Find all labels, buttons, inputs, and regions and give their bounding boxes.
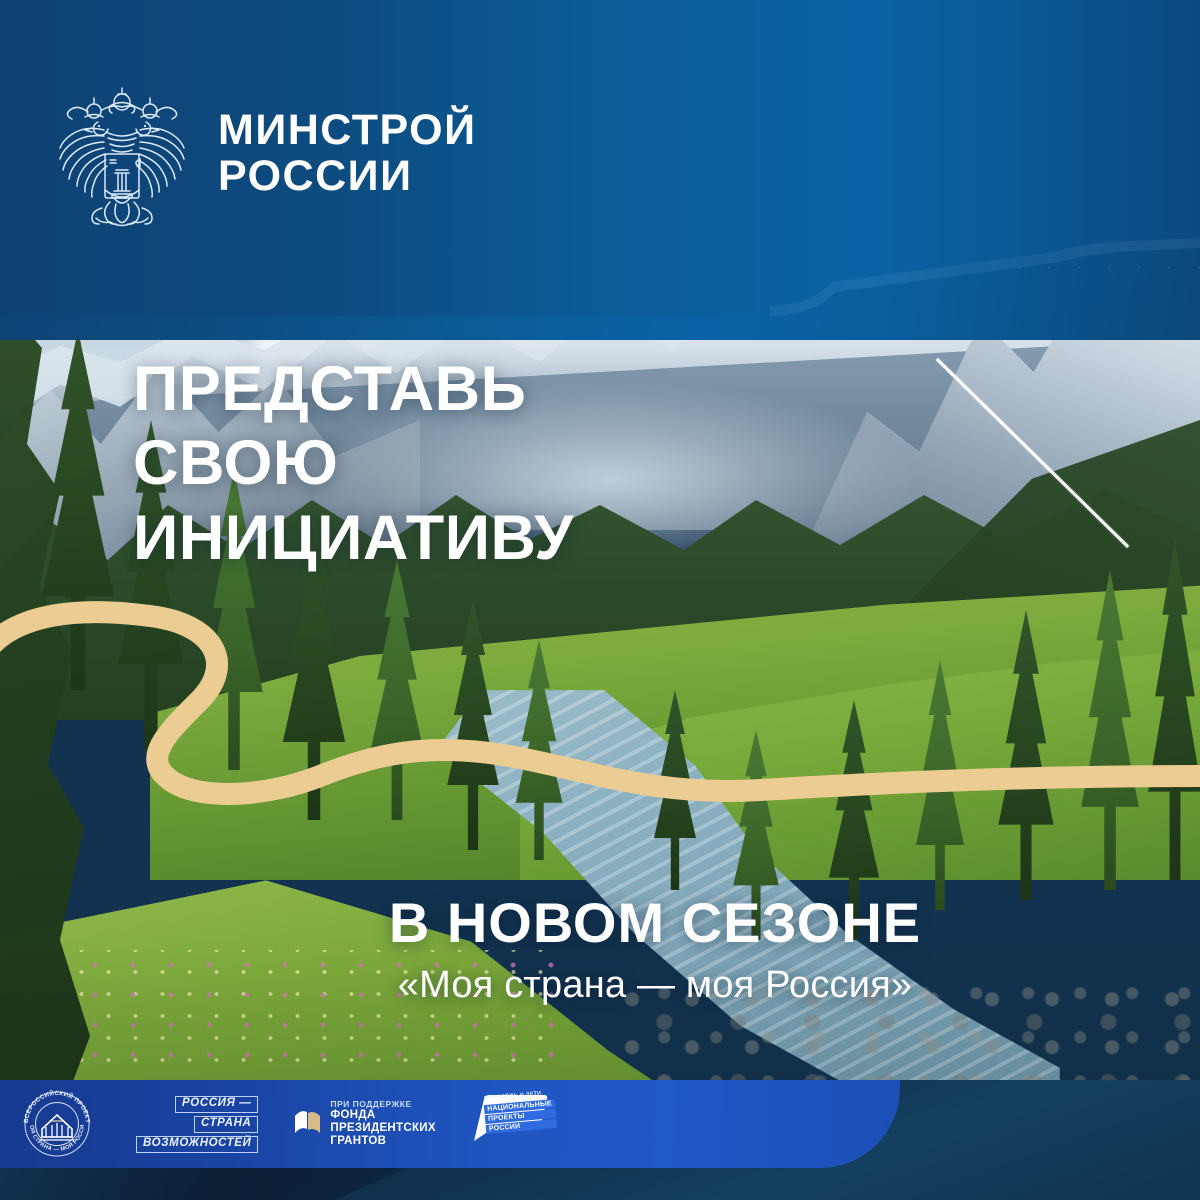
fund-support-label: ПРИ ПОДДЕРЖКЕ: [330, 1100, 435, 1110]
svg-text:ВСЕРОССИЙСКИЙ ПРОЕКТ: ВСЕРОССИЙСКИЙ ПРОЕКТ: [23, 1089, 91, 1123]
presidential-grants-mark-icon: [292, 1107, 322, 1141]
header-dot-grid: [940, 18, 1200, 268]
logo-rossiya-strana-vozmozhnostey[interactable]: РОССИЯ — СТРАНА ВОЗМОЖНОСТЕЙ: [136, 1096, 258, 1153]
moya-strana-emblem-icon: ВСЕРОССИЙСКИЙ ПРОЕКТ МОЯ СТРАНА — МОЯ РО…: [18, 1085, 96, 1163]
brand-name: МИНСТРОЙ РОССИИ: [218, 107, 477, 200]
bottom-text-block: В НОВОМ СЕЗОНЕ «Моя страна — моя Россия»: [0, 893, 1200, 1007]
season-title: В НОВОМ СЕЗОНЕ: [110, 893, 1200, 952]
brand-line-1: МИНСТРОЙ: [218, 107, 477, 153]
headline-line-2: СВОЮ: [133, 426, 574, 500]
fund-line-3: ГРАНТОВ: [330, 1135, 435, 1148]
headline: ПРЕДСТАВЬ СВОЮ ИНИЦИАТИВУ: [133, 352, 574, 575]
rsv-line-1: РОССИЯ —: [175, 1096, 258, 1113]
brand-lockup: МИНСТРОЙ РОССИИ: [52, 78, 477, 228]
fund-line-2: ПРЕЗИДЕНТСКИХ: [330, 1122, 435, 1135]
logo-moya-strana-moya-rossiya[interactable]: ВСЕРОССИЙСКИЙ ПРОЕКТ МОЯ СТРАНА — МОЯ РО…: [18, 1085, 96, 1163]
brand-line-2: РОССИИ: [218, 153, 477, 199]
logo-natsionalnye-proekty[interactable]: МОЛОДЁЖЬ И ДЕТИ НАЦИОНАЛЬНЫЕ ПРОЕКТЫ РОС…: [468, 1091, 520, 1157]
poster-root: МИНСТРОЙ РОССИИ ПРЕДСТАВЬ СВОЮ ИНИЦИАТИВ…: [0, 0, 1200, 1200]
fund-line-1: ФОНДА: [330, 1109, 435, 1122]
np-lines: НАЦИОНАЛЬНЫЕ ПРОЕКТЫ РОССИИ: [484, 1099, 557, 1134]
rsv-line-3: ВОЗМОЖНОСТЕЙ: [136, 1136, 258, 1153]
project-quote: «Моя страна — моя Россия»: [110, 964, 1200, 1007]
presidential-grants-text: ПРИ ПОДДЕРЖКЕ ФОНДА ПРЕЗИДЕНТСКИХ ГРАНТО…: [330, 1100, 435, 1148]
rsv-line-2: СТРАНА: [194, 1116, 258, 1133]
logo1-arc-top: ВСЕРОССИЙСКИЙ ПРОЕКТ: [23, 1089, 91, 1123]
headline-line-1: ПРЕДСТАВЬ: [133, 352, 574, 426]
headline-line-3: ИНИЦИАТИВУ: [133, 501, 574, 575]
partner-logos: ВСЕРОССИЙСКИЙ ПРОЕКТ МОЯ СТРАНА — МОЯ РО…: [0, 1080, 520, 1168]
russian-federation-eagle-icon: [52, 78, 192, 228]
footer-bar: ВСЕРОССИЙСКИЙ ПРОЕКТ МОЯ СТРАНА — МОЯ РО…: [0, 1080, 1200, 1200]
logo-prezidentskie-granty[interactable]: ПРИ ПОДДЕРЖКЕ ФОНДА ПРЕЗИДЕНТСКИХ ГРАНТО…: [292, 1100, 435, 1148]
